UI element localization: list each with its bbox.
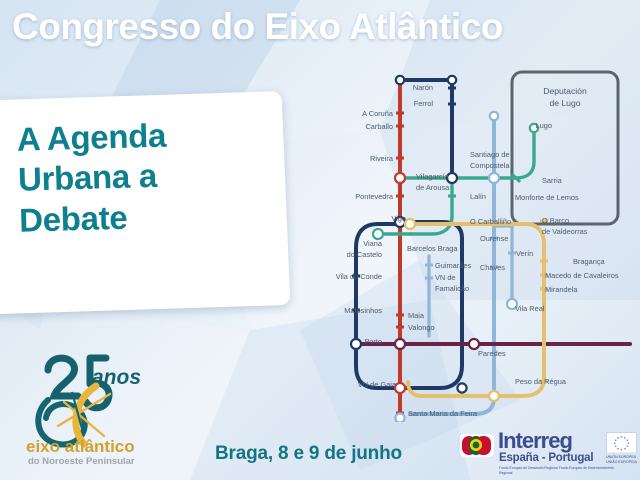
station-label: Santiago de: [470, 150, 509, 159]
poster-subtitle: A Agenda Urbana a Debate: [16, 112, 287, 240]
poster-title: Congresso do Eixo Atlântico: [12, 8, 632, 47]
interreg-flag-icon: [460, 434, 494, 457]
station-label: Maia: [408, 311, 425, 320]
station-label: Ferrol: [414, 99, 434, 108]
station-label: Verín: [516, 249, 533, 258]
eu-label: UNIÓN EUROPEA UNIÃO EUROPEIA: [606, 455, 640, 466]
station-label: Valongo: [408, 323, 435, 332]
station-label: Santa Maria da Feira: [408, 409, 478, 418]
line-green-lugo: [516, 128, 534, 178]
subtitle-line-3: Debate: [19, 193, 288, 241]
station-label: Vilagarcía: [416, 172, 450, 181]
station-label: VN de: [435, 273, 456, 282]
eu-flag-icon: [606, 432, 637, 453]
station-label: Peso da Régua: [515, 377, 567, 386]
station-labels: NarónFerrolA CoruñaCarballoRiveiraPontev…: [336, 83, 619, 418]
station-label: Riveira: [370, 154, 394, 163]
station-label: de Arousa: [416, 183, 450, 192]
station-label: do Castelo: [347, 250, 382, 259]
station-label: Carballo: [365, 122, 393, 131]
poster-canvas: Congresso do Eixo Atlântico A Agenda Urb…: [0, 0, 640, 480]
interreg-wordmark: Interreg: [498, 430, 572, 452]
station-label: O Carballiño: [470, 217, 511, 226]
station-label: Paredes: [478, 349, 506, 358]
station-label: Pontevedra: [355, 192, 394, 201]
station-label: Bragança: [573, 257, 606, 266]
station-label: Viana: [363, 239, 383, 248]
station-label: Macedo de Cavaleiros: [545, 271, 619, 280]
station-label: Monforte de Lemos: [515, 193, 579, 202]
eixo-atlantico-logo: anos eixo atlântico do Noroeste Peninsul…: [18, 340, 188, 468]
station-label: Chaves: [480, 263, 505, 272]
map-box-label-line1: Deputación: [543, 86, 587, 96]
interreg-program: España - Portugal: [499, 452, 593, 464]
station-label: Lalín: [470, 192, 486, 201]
station-label: Vila do Conde: [336, 272, 382, 281]
station-label: Narón: [413, 83, 433, 92]
station-label: O Barco: [542, 216, 569, 225]
station-label: Ourense: [480, 234, 508, 243]
station-label: A Coruña: [362, 109, 394, 118]
station-label: Guimarães: [435, 261, 471, 270]
station-label: Famalicão: [435, 284, 469, 293]
station-label: Mirandela: [545, 285, 578, 294]
station-label: Compostela: [470, 161, 510, 170]
map-box-label-line2: de Lugo: [549, 98, 580, 108]
metro-map-diagram: .ln{fill:none;stroke-linecap:round;strok…: [330, 66, 640, 422]
logo-tagline: do Noroeste Peninsular: [28, 456, 135, 467]
interreg-logo: Interreg España - Portugal Fondo Europeo…: [460, 430, 638, 478]
station-label: Vigo: [391, 214, 406, 223]
station-label: Matosinhos: [344, 306, 382, 315]
station-label: Barcelos Braga: [407, 244, 458, 253]
station-label: Vila Real: [515, 304, 545, 313]
station-label: VN de Gaia: [358, 380, 397, 389]
station-label: Sarria: [542, 176, 563, 185]
station-label: de Valdeorras: [542, 227, 588, 236]
interreg-fine-print: Fondo Europeo de Desarrollo Regional Fun…: [499, 466, 619, 476]
logo-name: eixo atlântico: [26, 437, 135, 456]
station-label: Lugo: [536, 121, 552, 130]
event-date: Braga, 8 e 9 de junho: [215, 443, 402, 465]
station-label: Porto: [364, 337, 382, 346]
